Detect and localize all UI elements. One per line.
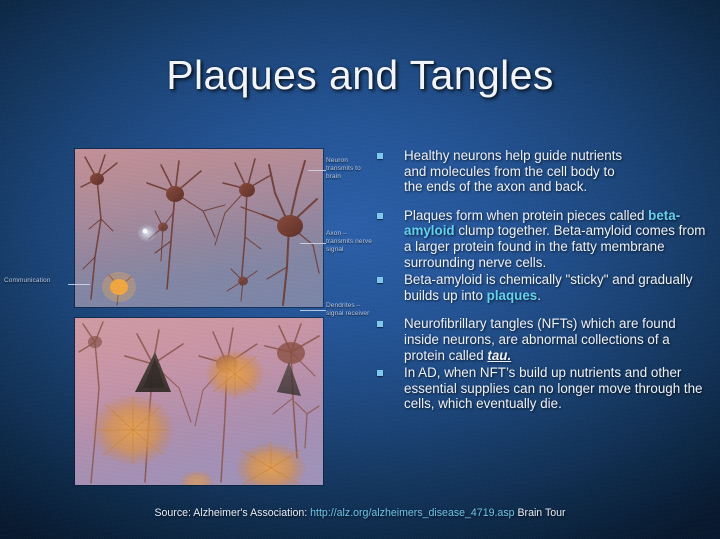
bullet-line: and molecules from the cell body to [404,164,615,179]
callout-axon: Axon – transmits nerve signal [326,230,372,254]
bullet-marker-icon [377,153,383,159]
bullet-ad-nft-buildup: In AD, when NFT’s build up nutrients and… [376,365,706,412]
source-url-link[interactable]: http://alz.org/alzheimers_disease_4719.a… [310,507,514,519]
slide: Plaques and Tangles [0,0,720,539]
bullet-text-part: Beta-amyloid is chemically "sticky" and … [404,272,693,303]
bullet-beta-amyloid-sticky: Beta-amyloid is chemically "sticky" and … [376,272,706,303]
bullet-marker-icon [377,277,383,283]
leader-line-dendrites [300,310,326,311]
highlight-plaques: plaques [487,288,538,303]
emphasis-tau: tau. [487,348,511,363]
bullet-line: the ends of the axon and back. [404,179,587,194]
callout-dendrites: Dendrites – signal receiver [326,302,372,318]
source-citation: Source: Alzheimer's Association: http://… [0,507,720,519]
bullet-marker-icon [377,213,383,219]
bullet-group-tangles: Neurofibrillary tangles (NFTs) which are… [376,316,706,412]
bullet-list: Healthy neurons help guide nutrients and… [376,148,706,412]
bullet-group-plaques: Plaques form when protein pieces called … [376,208,706,304]
bullet-text-part: In AD, when NFT’s build up nutrients and… [404,365,703,411]
bullet-marker-icon [377,321,383,327]
source-suffix: Brain Tour [517,507,565,519]
bullet-marker-icon [377,370,383,376]
leader-line-communication [68,284,90,285]
page-title: Plaques and Tangles [0,52,720,99]
callout-neuron: Neuron transmits to brain [326,157,370,181]
bullet-neurofibrillary-tangles: Neurofibrillary tangles (NFTs) which are… [376,316,706,363]
bullet-text-part: called [609,208,648,223]
leader-line-axon [300,243,326,244]
diseased-neurons-illustration [75,318,323,485]
diseased-neurons-image [75,318,323,485]
bullet-text-part: . [537,288,541,303]
bullet-line: Healthy neurons help guide nutrients [404,148,622,163]
figure-column [75,149,323,485]
bullet-group-healthy-neurons: Healthy neurons help guide nutrients and… [376,148,706,195]
bullet-healthy-neurons: Healthy neurons help guide nutrients and… [376,148,706,195]
leader-line-neuron [308,170,326,171]
bullet-plaques-form: Plaques form when protein pieces called … [376,208,706,270]
callout-communication: Communication [4,277,68,285]
source-prefix: Source: Alzheimer's Association: [154,507,307,519]
bullet-text-part: Neurofibrillary tangles (NFTs) which are… [404,316,676,362]
healthy-neurons-illustration [75,149,323,307]
healthy-neurons-image [75,149,323,307]
bullet-text-part: Plaques form when protein pieces [404,208,609,223]
